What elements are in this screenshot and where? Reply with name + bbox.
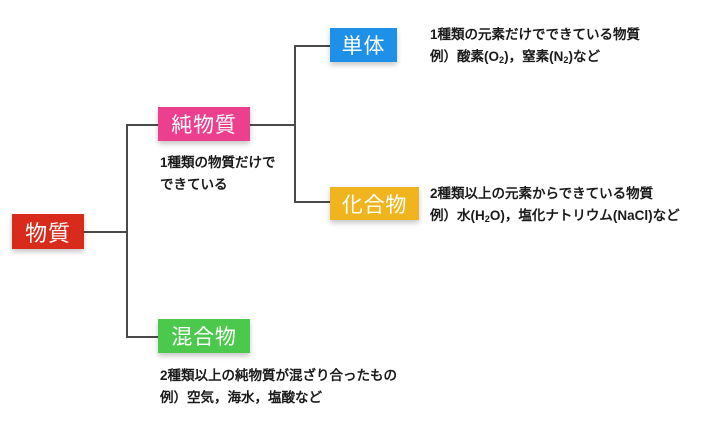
desc-simple-line2-suffix: )など [568, 49, 600, 64]
connector-main-trunk [126, 124, 128, 338]
desc-simple-line2-mid: )，窒素(N [504, 49, 563, 64]
desc-compound-line2-suffix: O)，塩化ナトリウム(NaCl)など [490, 208, 680, 223]
connector-pure-stub [250, 124, 296, 126]
node-mixture[interactable]: 混合物 [158, 319, 250, 353]
connector-subtrunk-to-simple [294, 45, 330, 47]
desc-simple-subscript-n2: 2 [563, 55, 568, 65]
desc-simple-line2-prefix: 例）酸素(O [430, 49, 499, 64]
desc-simple-line1: 1種類の元素だけでできている物質 [430, 24, 640, 46]
diagram-canvas: 物質 純物質 単体 化合物 混合物 1種類の物質だけで できている 1種類の元素… [0, 0, 705, 435]
node-mixture-label: 混合物 [171, 321, 237, 351]
connector-trunk-to-pure [126, 124, 160, 126]
desc-compound-line1: 2種類以上の元素からできている物質 [430, 183, 680, 205]
node-simple-label: 単体 [342, 30, 386, 60]
node-compound-label: 化合物 [342, 189, 408, 219]
desc-mixture-line1: 2種類以上の純物質が混ざり合ったもの [160, 365, 397, 387]
node-pure-substance[interactable]: 純物質 [158, 107, 250, 141]
desc-compound-subscript-h2o: 2 [485, 214, 490, 224]
desc-mixture: 2種類以上の純物質が混ざり合ったもの 例）空気，海水，塩酸など [160, 365, 397, 409]
desc-compound-line2: 例）水(H2O)，塩化ナトリウム(NaCl)など [430, 205, 680, 228]
connector-root-stub [84, 231, 128, 233]
node-root-label: 物質 [25, 216, 71, 248]
node-root-material[interactable]: 物質 [12, 214, 84, 249]
node-pure-label: 純物質 [171, 109, 237, 139]
desc-compound-line2-prefix: 例）水(H [430, 208, 485, 223]
desc-simple-line2: 例）酸素(O2)，窒素(N2)など [430, 46, 640, 69]
desc-pure-line1: 1種類の物質だけで [160, 152, 276, 174]
connector-sub-trunk [294, 45, 296, 203]
desc-simple-subscript-o2: 2 [499, 55, 504, 65]
connector-subtrunk-to-compound [294, 201, 330, 203]
desc-compound: 2種類以上の元素からできている物質 例）水(H2O)，塩化ナトリウム(NaCl)… [430, 183, 680, 228]
connector-trunk-to-mixture [126, 336, 160, 338]
node-compound[interactable]: 化合物 [330, 187, 419, 220]
desc-simple-substance: 1種類の元素だけでできている物質 例）酸素(O2)，窒素(N2)など [430, 24, 640, 69]
node-simple-substance[interactable]: 単体 [330, 28, 397, 62]
desc-pure-substance: 1種類の物質だけで できている [160, 152, 276, 196]
desc-mixture-line2: 例）空気，海水，塩酸など [160, 387, 397, 409]
desc-pure-line2: できている [160, 174, 276, 196]
